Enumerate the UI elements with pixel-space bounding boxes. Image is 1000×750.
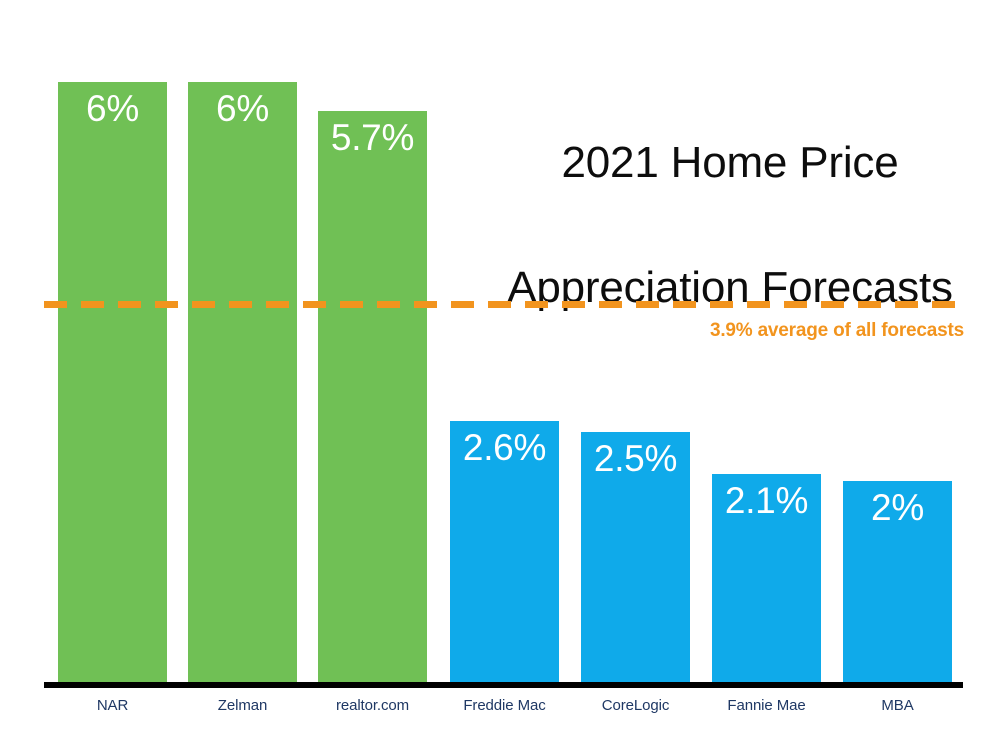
bar-freddie-mac[interactable]: 2.6%	[450, 421, 559, 684]
category-label-realtor-com: realtor.com	[318, 697, 427, 715]
category-label-fannie-mae: Fannie Mae	[712, 697, 821, 715]
bar-value-label: 2.6%	[450, 425, 559, 471]
category-label-mba: MBA	[843, 697, 952, 715]
category-label-freddie-mac: Freddie Mac	[450, 697, 559, 715]
bar-value-label: 6%	[188, 86, 297, 132]
bar-value-label: 6%	[58, 86, 167, 132]
bar-fannie-mae[interactable]: 2.1%	[712, 474, 821, 684]
bar-mba[interactable]: 2%	[843, 481, 952, 684]
category-label-nar: NAR	[58, 697, 167, 715]
bar-zelman[interactable]: 6%	[188, 82, 297, 684]
category-label-zelman: Zelman	[188, 697, 297, 715]
x-axis-line	[44, 682, 963, 688]
bar-nar[interactable]: 6%	[58, 82, 167, 684]
bar-realtor-com[interactable]: 5.7%	[318, 111, 427, 684]
category-label-corelogic: CoreLogic	[581, 697, 690, 715]
average-reference-label: 3.9% average of all forecasts	[710, 320, 964, 342]
bar-value-label: 2%	[843, 485, 952, 531]
bar-value-label: 2.5%	[581, 436, 690, 482]
bar-value-label: 5.7%	[318, 115, 427, 161]
bar-value-label: 2.1%	[712, 478, 821, 524]
bar-chart: 2021 Home Price Appreciation Forecasts 6…	[0, 0, 1000, 750]
plot-area: 6%NAR6%Zelman5.7%realtor.com2.6%Freddie …	[0, 0, 1000, 750]
average-reference-line	[44, 301, 963, 308]
bar-corelogic[interactable]: 2.5%	[581, 432, 690, 684]
